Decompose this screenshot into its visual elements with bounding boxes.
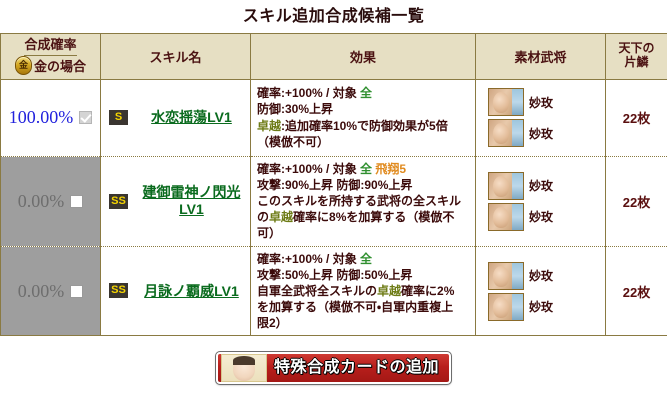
effect-target-keyword: 全 bbox=[360, 252, 372, 266]
cell-fragment-count: 22枚 bbox=[606, 156, 667, 246]
general-portrait-icon bbox=[488, 172, 524, 200]
row-select-checkbox[interactable] bbox=[70, 285, 83, 298]
table-row: 0.00%SS建御雷神ノ閃光LV1確率:+100% / 対象 全 飛翔5攻撃:9… bbox=[1, 156, 667, 246]
skill-name-link[interactable]: 建御雷神ノ閃光LV1 bbox=[135, 184, 248, 218]
skill-name-link[interactable]: 水恋揺蕩LV1 bbox=[135, 109, 248, 126]
skill-rank-badge: S bbox=[109, 110, 128, 125]
row-select-checkbox bbox=[79, 111, 92, 124]
effect-line: 確率:+100% / 対象 全 飛翔5 bbox=[257, 161, 471, 177]
cell-skill-name: SS月詠ノ覇威LV1 bbox=[101, 246, 251, 336]
add-special-fusion-card-button[interactable]: 特殊合成カードの追加 bbox=[216, 352, 451, 384]
effect-line: 防御:30%上昇 bbox=[257, 101, 471, 117]
table-header-row: 合成確率 金の場合 スキル名 効果 素材武将 天下の片鱗 bbox=[1, 33, 667, 79]
material-general-item[interactable]: 妙玫 bbox=[488, 119, 553, 147]
general-portrait-icon bbox=[488, 293, 524, 321]
header-rate-bottom: 金の場合 bbox=[1, 53, 100, 79]
header-cell-fragment: 天下の片鱗 bbox=[606, 33, 667, 79]
cell-fragment-count: 22枚 bbox=[606, 246, 667, 336]
page-title: スキル追加合成候補一覧 bbox=[0, 0, 667, 33]
material-general-name: 妙玫 bbox=[529, 208, 553, 225]
cell-fragment-count: 22枚 bbox=[606, 79, 667, 156]
cell-effect: 確率:+100% / 対象 全攻撃:50%上昇 防御:50%上昇自軍全武将全スキ… bbox=[251, 246, 476, 336]
cell-skill-name: SS建御雷神ノ閃光LV1 bbox=[101, 156, 251, 246]
effect-line: （模倣不可） bbox=[257, 134, 471, 150]
cell-synthesis-rate: 0.00% bbox=[1, 246, 101, 336]
cell-skill-name: S水恋揺蕩LV1 bbox=[101, 79, 251, 156]
effect-target-keyword: 全 bbox=[360, 86, 372, 100]
effect-line: 可） bbox=[257, 225, 471, 241]
header-rate-bottom-label: 金の場合 bbox=[34, 56, 86, 75]
header-cell-rate: 合成確率 金の場合 bbox=[1, 33, 101, 79]
effect-keyword: 卓越 bbox=[269, 210, 293, 224]
general-portrait-icon bbox=[488, 262, 524, 290]
footer: 特殊合成カードの追加 bbox=[0, 336, 667, 384]
cell-effect: 確率:+100% / 対象 全防御:30%上昇卓越:追加確率10%で防御効果が5… bbox=[251, 79, 476, 156]
material-general-item[interactable]: 妙玫 bbox=[488, 172, 553, 200]
header-cell-effect: 効果 bbox=[251, 33, 476, 79]
material-general-item[interactable]: 妙玫 bbox=[488, 262, 553, 290]
effect-line: 攻撃:50%上昇 防御:50%上昇 bbox=[257, 267, 471, 283]
effect-line: を加算する（模倣不可・自軍内重複上 bbox=[257, 299, 471, 315]
effect-line: 限2） bbox=[257, 315, 471, 331]
general-portrait-icon bbox=[488, 88, 524, 116]
rate-value: 0.00% bbox=[18, 191, 65, 212]
material-general-name: 妙玫 bbox=[529, 94, 553, 111]
effect-target-keyword: 全 bbox=[360, 162, 372, 176]
material-general-name: 妙玫 bbox=[529, 125, 553, 142]
gold-coin-icon bbox=[15, 56, 32, 75]
effect-line: このスキルを所持する武将の全スキル bbox=[257, 193, 471, 209]
cell-synthesis-rate: 100.00% bbox=[1, 79, 101, 156]
material-general-item[interactable]: 妙玫 bbox=[488, 88, 553, 116]
general-portrait-icon bbox=[221, 354, 267, 382]
row-select-checkbox[interactable] bbox=[70, 195, 83, 208]
effect-keyword: 卓越 bbox=[377, 284, 401, 298]
material-general-item[interactable]: 妙玫 bbox=[488, 203, 553, 231]
effect-tag: 飛翔5 bbox=[372, 162, 406, 176]
effect-line: 攻撃:90%上昇 防御:90%上昇 bbox=[257, 177, 471, 193]
rate-value: 0.00% bbox=[18, 281, 65, 302]
cell-material-generals: 妙玫妙玫 bbox=[476, 156, 606, 246]
cell-material-generals: 妙玫妙玫 bbox=[476, 246, 606, 336]
header-cell-skill-name: スキル名 bbox=[101, 33, 251, 79]
header-cell-material: 素材武将 bbox=[476, 33, 606, 79]
effect-line: の卓越確率に8%を加算する（模倣不 bbox=[257, 209, 471, 225]
effect-line: 卓越:追加確率10%で防御効果が5倍 bbox=[257, 118, 471, 134]
effect-keyword: 卓越 bbox=[257, 119, 281, 133]
general-portrait-icon bbox=[488, 119, 524, 147]
cell-synthesis-rate: 0.00% bbox=[1, 156, 101, 246]
material-general-name: 妙玫 bbox=[529, 298, 553, 315]
header-rate-top: 合成確率 bbox=[24, 33, 76, 56]
skill-candidates-table: 合成確率 金の場合 スキル名 効果 素材武将 天下の片鱗 100.00%S水恋揺… bbox=[0, 33, 667, 337]
skill-rank-badge: SS bbox=[109, 283, 128, 298]
rate-value: 100.00% bbox=[9, 107, 74, 128]
skill-rank-badge: SS bbox=[109, 194, 128, 209]
table-row: 100.00%S水恋揺蕩LV1確率:+100% / 対象 全防御:30%上昇卓越… bbox=[1, 79, 667, 156]
table-row: 0.00%SS月詠ノ覇威LV1確率:+100% / 対象 全攻撃:50%上昇 防… bbox=[1, 246, 667, 336]
skill-name-link[interactable]: 月詠ノ覇威LV1 bbox=[135, 283, 248, 300]
effect-line: 自軍全武将全スキルの卓越確率に2% bbox=[257, 283, 471, 299]
general-portrait-icon bbox=[488, 203, 524, 231]
material-general-name: 妙玫 bbox=[529, 267, 553, 284]
add-card-button-label: 特殊合成カードの追加 bbox=[274, 360, 439, 376]
effect-line: 確率:+100% / 対象 全 bbox=[257, 85, 471, 101]
material-general-item[interactable]: 妙玫 bbox=[488, 293, 553, 321]
material-general-name: 妙玫 bbox=[529, 177, 553, 194]
effect-line: 確率:+100% / 対象 全 bbox=[257, 251, 471, 267]
cell-effect: 確率:+100% / 対象 全 飛翔5攻撃:90%上昇 防御:90%上昇このスキ… bbox=[251, 156, 476, 246]
cell-material-generals: 妙玫妙玫 bbox=[476, 79, 606, 156]
